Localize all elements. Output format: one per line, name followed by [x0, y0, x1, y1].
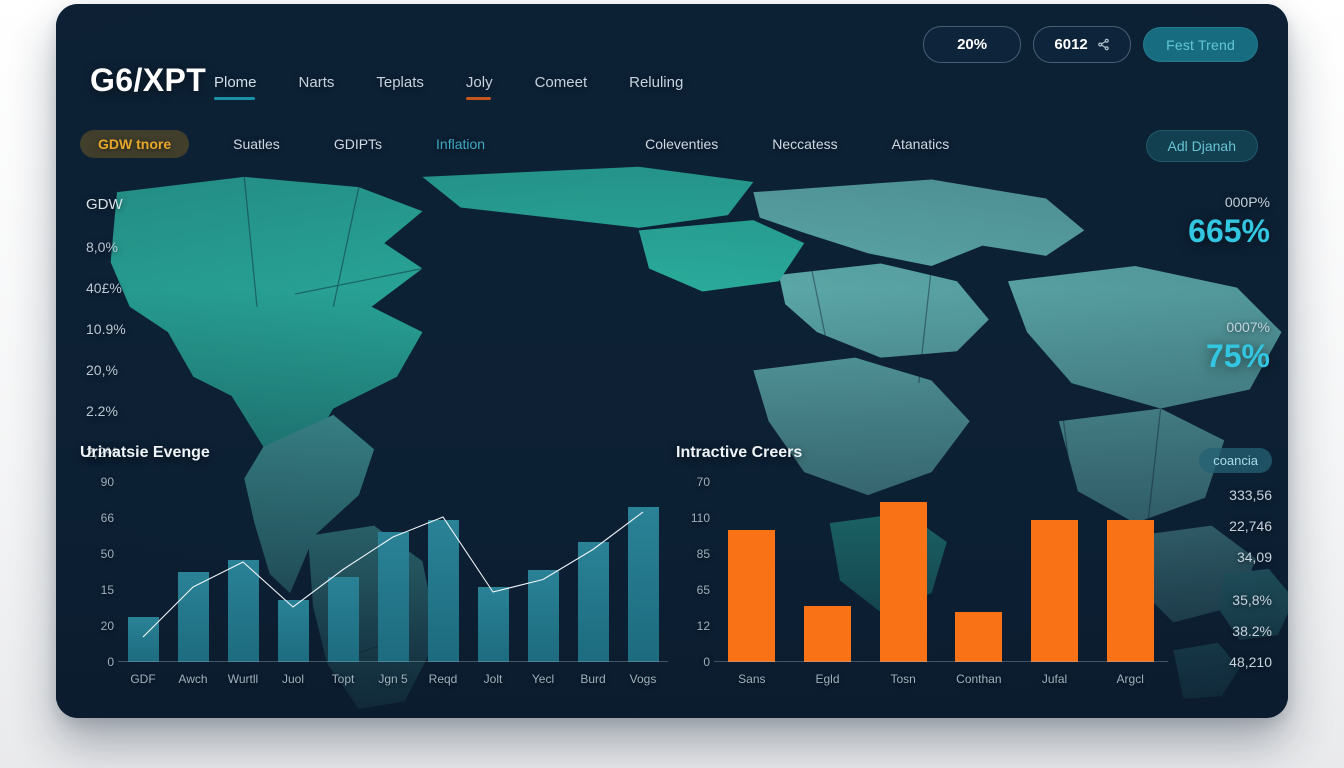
left-chart-axis-line [118, 661, 668, 662]
left-chart-y-axis: 90665015200 [80, 482, 114, 662]
left-chart-title: Urinatsie Evenge [80, 444, 668, 462]
left-chart-x-axis: GDFAwchWurtllJuolToptJgn 5ReqdJoltYeclBu… [118, 672, 668, 686]
axis-tick-label: 90 [101, 475, 114, 489]
chart-bar-cell[interactable] [1017, 482, 1093, 662]
axis-tick-label: Vogs [618, 672, 668, 686]
stat-row: 22,746 [1154, 518, 1272, 534]
secondary-nav: GDW tnore Suatles GDIPTs Inflation Colev… [80, 130, 959, 158]
nav-item-narts[interactable]: Narts [299, 74, 335, 100]
stat-row: 34,09 [1154, 549, 1272, 565]
right-metric-label: 000P% [1130, 194, 1270, 210]
axis-tick-label: Egld [790, 672, 866, 686]
axis-tick-label: Juol [268, 672, 318, 686]
right-metric-value: 665% [1130, 214, 1270, 249]
right-metric-label: 0007% [1130, 319, 1270, 335]
chart-bar[interactable] [804, 606, 851, 662]
right-chart-bars [714, 482, 1168, 662]
axis-tick-label: 12 [697, 619, 710, 633]
adl-djanah-button[interactable]: Adl Djanah [1146, 130, 1259, 162]
chart-bar-cell[interactable] [714, 482, 790, 662]
axis-tick-label: Wurtll [218, 672, 268, 686]
subnav-item-suatles[interactable]: Suatles [223, 130, 290, 158]
left-chart-trend-line [118, 482, 668, 662]
subnav-item-neccatess[interactable]: Neccatess [762, 130, 847, 158]
axis-tick-label: Awch [168, 672, 218, 686]
axis-tick-label: Sans [714, 672, 790, 686]
right-metric-value: 75% [1130, 339, 1270, 374]
primary-nav: Plome Narts Teplats Joly Comeet Reluling [214, 74, 683, 100]
axis-tick-label: Tosn [865, 672, 941, 686]
stat-row: 48,210 [1154, 654, 1272, 670]
axis-tick-label: 15 [101, 583, 114, 597]
chart-bar[interactable] [1031, 520, 1078, 662]
right-chart-y-axis: 701108565120 [676, 482, 710, 662]
right-metrics-panel: 000P% 665% 0007% 75% [1130, 194, 1270, 374]
axis-tick-label: 85 [697, 547, 710, 561]
nav-item-joly[interactable]: Joly [466, 74, 493, 100]
nav-item-reluling[interactable]: Reluling [629, 74, 683, 100]
axis-tick-label: Topt [318, 672, 368, 686]
fest-trend-button[interactable]: Fest Trend [1143, 27, 1258, 62]
chart-bar[interactable] [955, 612, 1002, 662]
axis-tick-label: 110 [691, 511, 710, 525]
left-metrics-panel: GDW 8,0% 40£% 10.9% 20,% 2.2% 2,2% [86, 196, 236, 485]
axis-tick-label: 66 [101, 511, 114, 525]
right-chart-x-axis: SansEgldTosnConthanJufalArgcl [714, 672, 1168, 686]
right-chart-title: Intractive Creers [676, 444, 1168, 462]
axis-tick-label: 50 [101, 547, 114, 561]
axis-tick-label: 65 [697, 583, 710, 597]
left-chart: Urinatsie Evenge 90665015200 GDFAwchWurt… [80, 444, 668, 692]
left-metric-value: 40£% [86, 280, 236, 296]
chart-bar-cell[interactable] [941, 482, 1017, 662]
axis-tick-label: 0 [703, 655, 710, 669]
stat-row: 333,56 [1154, 487, 1272, 503]
nav-item-plome[interactable]: Plome [214, 74, 257, 100]
axis-tick-label: Jolt [468, 672, 518, 686]
subnav-item-atanatics[interactable]: Atanatics [882, 130, 960, 158]
right-chart-axis-line [714, 661, 1168, 662]
left-chart-plot: 90665015200 [80, 482, 668, 662]
stat-row: 35,8% [1154, 592, 1272, 608]
left-metrics-header: GDW [86, 196, 236, 213]
count-pill[interactable]: 6012 [1033, 26, 1131, 63]
stat-row: 38.2% [1154, 623, 1272, 639]
left-metric-value: 10.9% [86, 321, 236, 337]
axis-tick-label: 20 [101, 619, 114, 633]
bottom-right-stats: coancia 333,56 22,746 34,09 35,8% 38.2% … [1154, 448, 1272, 685]
coancia-badge[interactable]: coancia [1199, 448, 1272, 473]
chart-bar-cell[interactable] [790, 482, 866, 662]
page-title: G6/XPT [90, 62, 206, 99]
chart-bar-cell[interactable] [865, 482, 941, 662]
chart-bar[interactable] [1107, 520, 1154, 662]
axis-tick-label: Yecl [518, 672, 568, 686]
axis-tick-label: Jgn 5 [368, 672, 418, 686]
dashboard-window: G6/XPT Plome Narts Teplats Joly Comeet R… [56, 4, 1288, 718]
share-icon [1097, 38, 1110, 51]
axis-tick-label: Reqd [418, 672, 468, 686]
left-metric-value: 20,% [86, 362, 236, 378]
header-actions: 20% 6012 Fest Trend [923, 26, 1258, 63]
right-chart-plot: 701108565120 [676, 482, 1168, 662]
count-pill-label: 6012 [1054, 36, 1087, 53]
left-metric-value: 8,0% [86, 239, 236, 255]
percent-pill[interactable]: 20% [923, 26, 1021, 63]
left-metric-value: 2.2% [86, 403, 236, 419]
nav-item-teplats[interactable]: Teplats [376, 74, 424, 100]
subnav-item-inflation[interactable]: Inflation [426, 130, 495, 158]
subnav-item-gdw-tnore[interactable]: GDW tnore [80, 130, 189, 158]
nav-item-comeet[interactable]: Comeet [535, 74, 588, 100]
percent-pill-label: 20% [957, 36, 987, 53]
axis-tick-label: 0 [107, 655, 114, 669]
axis-tick-label: Conthan [941, 672, 1017, 686]
subnav-item-gdipts[interactable]: GDIPTs [324, 130, 392, 158]
subnav-item-coleventies[interactable]: Coleventies [635, 130, 728, 158]
axis-tick-label: 70 [697, 475, 710, 489]
right-chart: Intractive Creers 701108565120 SansEgldT… [676, 444, 1168, 692]
axis-tick-label: Jufal [1017, 672, 1093, 686]
chart-bar[interactable] [728, 530, 775, 662]
axis-tick-label: Burd [568, 672, 618, 686]
chart-bar[interactable] [880, 502, 927, 662]
axis-tick-label: GDF [118, 672, 168, 686]
